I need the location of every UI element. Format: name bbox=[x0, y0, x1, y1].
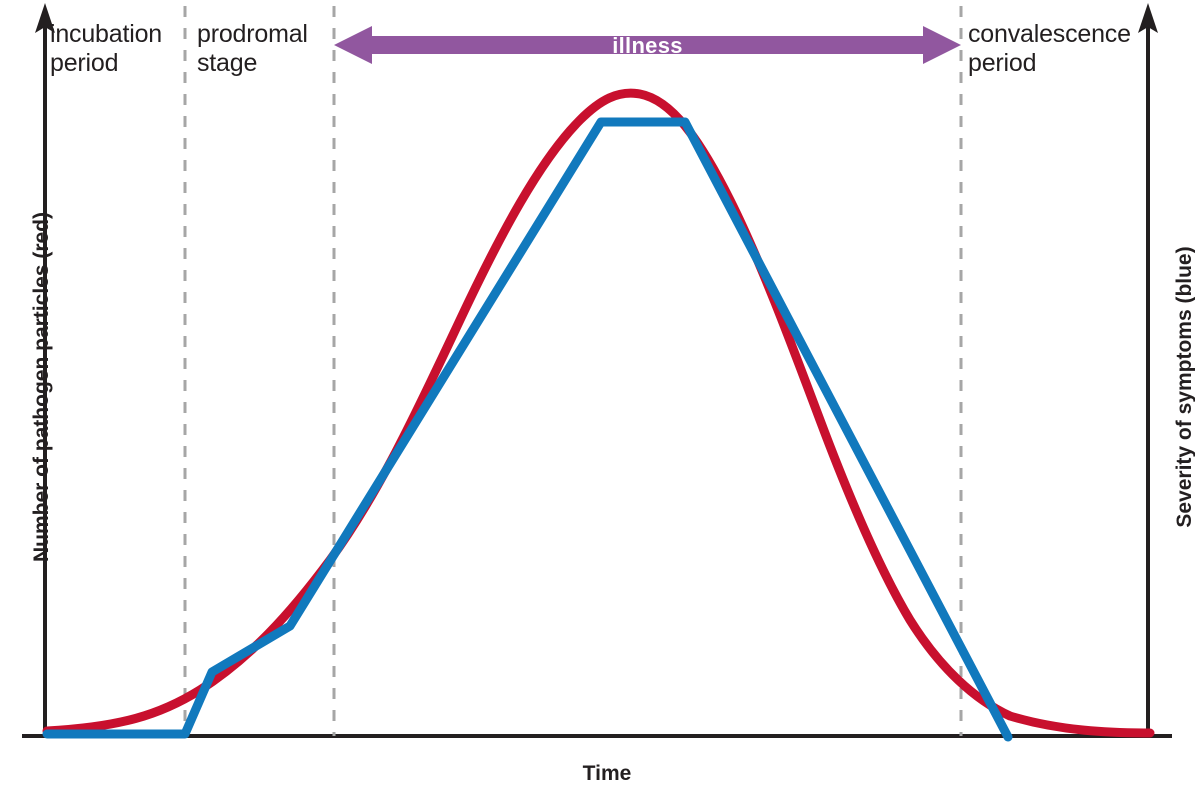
stage-label-prodromal: prodromal stage bbox=[197, 20, 308, 78]
infection-stages-chart: incubation period prodromal stage conval… bbox=[0, 0, 1195, 786]
y-axis-right-title: Severity of symptoms (blue) bbox=[1173, 187, 1195, 587]
illness-arrow-shape bbox=[334, 26, 961, 64]
chart-canvas bbox=[0, 0, 1195, 786]
stage-label-convalescence: convalescence period bbox=[968, 20, 1131, 78]
y-axis-left-title: Number of pathogen particles (red) bbox=[30, 187, 54, 587]
pathogen-particles-curve bbox=[47, 93, 1150, 733]
x-axis-title: Time bbox=[497, 762, 717, 786]
stage-label-incubation: incubation period bbox=[50, 20, 162, 78]
symptoms-severity-curve bbox=[47, 122, 1008, 737]
axes-group bbox=[22, 3, 1172, 737]
stage-dividers-group bbox=[185, 6, 961, 736]
illness-double-arrow bbox=[334, 26, 961, 64]
